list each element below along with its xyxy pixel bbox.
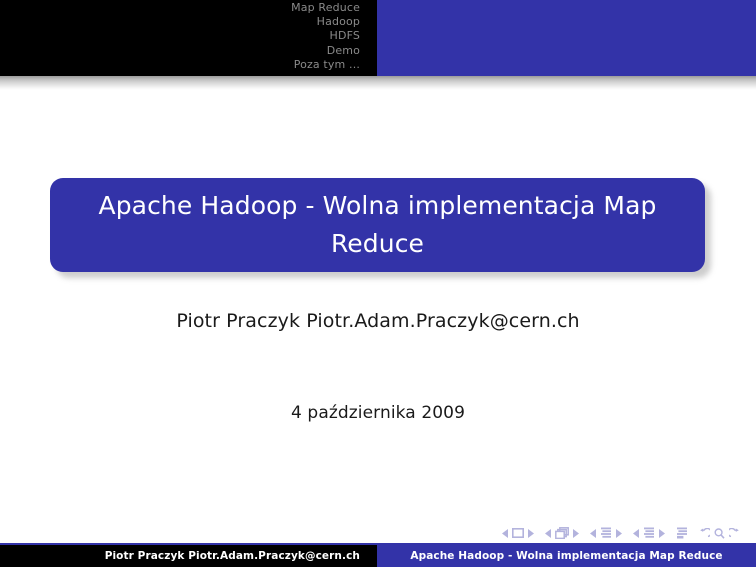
- footline-author: Piotr Praczyk Piotr.Adam.Praczyk@cern.ch: [105, 550, 377, 562]
- headline-shadow: [0, 76, 756, 90]
- nav-group-slide: [502, 528, 534, 538]
- next-subsection-arrow-icon[interactable]: [616, 529, 622, 538]
- document-icon[interactable]: [676, 527, 688, 539]
- nav-item-demo[interactable]: Demo: [0, 44, 360, 58]
- nav-group-history: [699, 528, 740, 539]
- author-line: Piotr Praczyk Piotr.Adam.Praczyk@cern.ch: [0, 310, 756, 332]
- prev-section-arrow-icon[interactable]: [633, 529, 639, 538]
- headline-left-panel: Map Reduce Hadoop HDFS Demo Poza tym ...: [0, 0, 377, 76]
- footline-title: Apache Hadoop - Wolna implementacja Map …: [410, 550, 722, 562]
- title-box: Apache Hadoop - Wolna implementacja Map …: [50, 178, 705, 272]
- nav-group-frame: [545, 527, 579, 539]
- footline-left-panel: Piotr Praczyk Piotr.Adam.Praczyk@cern.ch: [0, 545, 377, 567]
- nav-group-subsection: [590, 527, 622, 539]
- next-frame-arrow-icon[interactable]: [573, 529, 579, 538]
- footline-bar: Piotr Praczyk Piotr.Adam.Praczyk@cern.ch…: [0, 545, 756, 567]
- slide-icon[interactable]: [512, 528, 524, 538]
- next-section-arrow-icon[interactable]: [659, 529, 665, 538]
- prev-frame-arrow-icon[interactable]: [545, 529, 551, 538]
- nav-item-poza-tym[interactable]: Poza tym ...: [0, 58, 360, 72]
- nav-group-section: [633, 527, 665, 539]
- footline-right-panel: Apache Hadoop - Wolna implementacja Map …: [377, 545, 756, 567]
- section-icon[interactable]: [643, 527, 655, 539]
- search-icon[interactable]: [714, 528, 725, 539]
- next-slide-arrow-icon[interactable]: [528, 529, 534, 538]
- nav-item-hdfs[interactable]: HDFS: [0, 29, 360, 43]
- beamer-navigation-symbols: [502, 525, 740, 541]
- page-title: Apache Hadoop - Wolna implementacja Map …: [50, 187, 705, 263]
- frame-icon[interactable]: [555, 527, 569, 539]
- nav-item-map-reduce[interactable]: Map Reduce: [0, 1, 360, 15]
- section-navigation-list: Map Reduce Hadoop HDFS Demo Poza tym ...: [0, 1, 360, 72]
- presentation-slide: Map Reduce Hadoop HDFS Demo Poza tym ...…: [0, 0, 756, 567]
- date-line: 4 października 2009: [0, 403, 756, 423]
- go-forward-icon[interactable]: [729, 528, 740, 539]
- headline-right-panel: [377, 0, 756, 76]
- nav-group-document: [676, 527, 688, 539]
- prev-slide-arrow-icon[interactable]: [502, 529, 508, 538]
- go-back-icon[interactable]: [699, 528, 710, 539]
- prev-subsection-arrow-icon[interactable]: [590, 529, 596, 538]
- nav-item-hadoop[interactable]: Hadoop: [0, 15, 360, 29]
- headline-bar: Map Reduce Hadoop HDFS Demo Poza tym ...: [0, 0, 756, 76]
- subsection-icon[interactable]: [600, 527, 612, 539]
